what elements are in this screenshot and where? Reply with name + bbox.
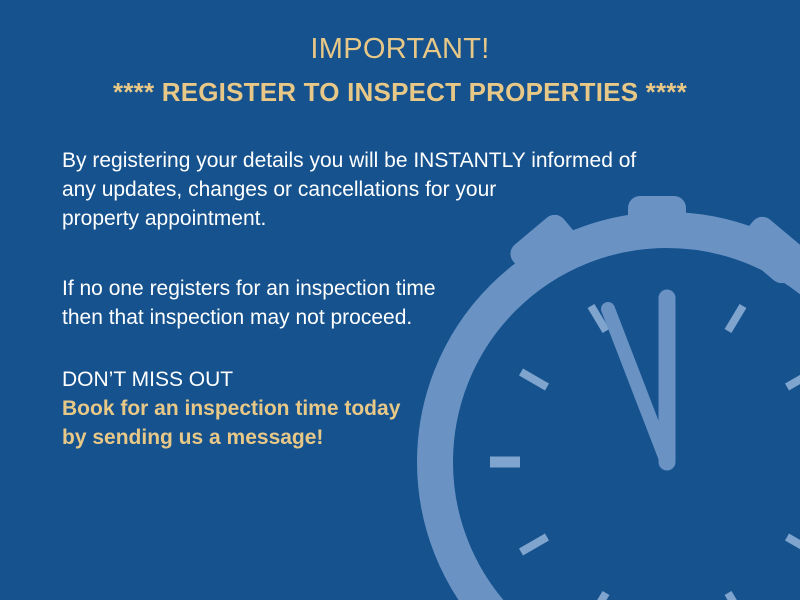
cta-line-2: Book for an inspection time today xyxy=(62,394,400,423)
intro-line-3: property appointment. xyxy=(62,204,636,233)
cta-line-3: by sending us a message! xyxy=(62,423,400,452)
warning-line-1: If no one registers for an inspection ti… xyxy=(62,274,436,303)
intro-line-2: any updates, changes or cancellations fo… xyxy=(62,175,636,204)
page-title: IMPORTANT! xyxy=(0,30,800,68)
heading-block: IMPORTANT! **** REGISTER TO INSPECT PROP… xyxy=(0,30,800,111)
slide-canvas: IMPORTANT! **** REGISTER TO INSPECT PROP… xyxy=(0,0,800,600)
warning-line-2: then that inspection may not proceed. xyxy=(62,303,436,332)
intro-paragraph: By registering your details you will be … xyxy=(62,146,636,233)
intro-line-1: By registering your details you will be … xyxy=(62,146,636,175)
cta-line-1: DON’T MISS OUT xyxy=(62,365,400,394)
warning-paragraph: If no one registers for an inspection ti… xyxy=(62,274,436,332)
page-subtitle: **** REGISTER TO INSPECT PROPERTIES **** xyxy=(0,73,800,111)
call-to-action-block: DON’T MISS OUT Book for an inspection ti… xyxy=(62,365,400,452)
